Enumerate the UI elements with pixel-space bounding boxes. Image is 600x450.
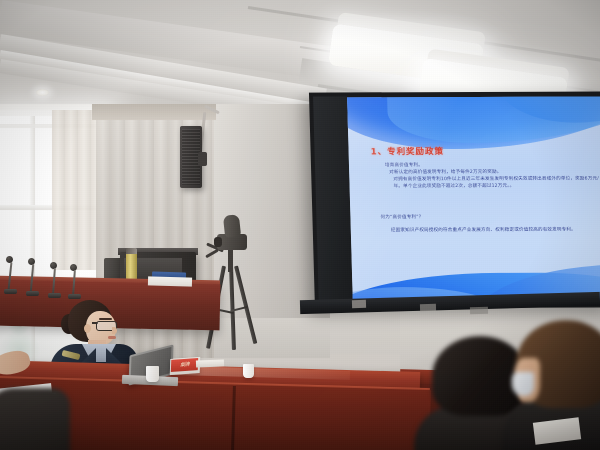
- paper-cup-1: [146, 366, 159, 382]
- shoulders: [0, 388, 70, 450]
- desk-papers-3: [196, 360, 224, 368]
- face-mask-icon: [512, 372, 534, 396]
- screen-mount-foot-1: [352, 300, 366, 308]
- screen-mount-foot-2: [420, 304, 436, 311]
- paper-cup-2: [243, 364, 254, 378]
- microphone-base: [26, 291, 39, 296]
- microphone-base: [48, 293, 61, 298]
- attendee-far-left: [0, 378, 70, 450]
- meeting-room-photo: 1、专利奖励政策 培育高价值专利。 对新认定的高价值发明专利，给予每件2万元的奖…: [0, 0, 600, 450]
- screen-active-area: 1、专利奖励政策 培育高价值专利。 对新认定的高价值发明专利，给予每件2万元的奖…: [347, 97, 600, 304]
- thermos-flask: [126, 252, 137, 280]
- microphone-base: [4, 289, 17, 294]
- curtain-rail: [92, 104, 216, 120]
- slide-paragraph-3: 对拥有高价值发明专利10件以上且近三年未发生发明专利权失效或转出县域外的单位，奖…: [393, 177, 600, 191]
- nose: [112, 327, 117, 334]
- recessed-downlight-icon: [36, 89, 49, 96]
- rostrum-papers: [148, 276, 192, 286]
- slide-paragraph-1: 培育高价值专利。: [385, 163, 423, 170]
- slide-content: 1、专利奖励政策 培育高价值专利。 对新认定的高价值发明专利，给予每件2万元的奖…: [347, 97, 600, 304]
- lips: [108, 336, 116, 339]
- slide-title: 1、专利奖励政策: [370, 145, 444, 157]
- thermos-cap: [126, 248, 137, 254]
- screen-dark-panel: [313, 96, 353, 304]
- video-camera-viewfinder: [223, 214, 241, 238]
- slide-paragraph-5: 经国家知识产权局授权的符合重点产业发展方向、权利稳定或价值较高的有效发明专利。: [391, 228, 600, 235]
- slide-question: 何为“高价值专利”？: [380, 215, 423, 222]
- name-plate-text: 桌牌: [173, 360, 197, 370]
- camera-lens-icon: [214, 237, 222, 247]
- led-video-wall[interactable]: 1、专利奖励政策 培育高价值专利。 对新认定的高价值发明专利，给予每件2万元的奖…: [309, 92, 600, 309]
- tripod-column: [228, 248, 233, 272]
- eyebrow: [99, 318, 112, 320]
- microphone-base: [68, 294, 81, 299]
- screen-mount-foot-3: [470, 307, 488, 314]
- speaker-bracket: [198, 152, 207, 166]
- ear: [84, 324, 91, 333]
- slide-paragraph-2: 对新认定的高价值发明专利，给予每件2万元的奖励。: [389, 170, 501, 177]
